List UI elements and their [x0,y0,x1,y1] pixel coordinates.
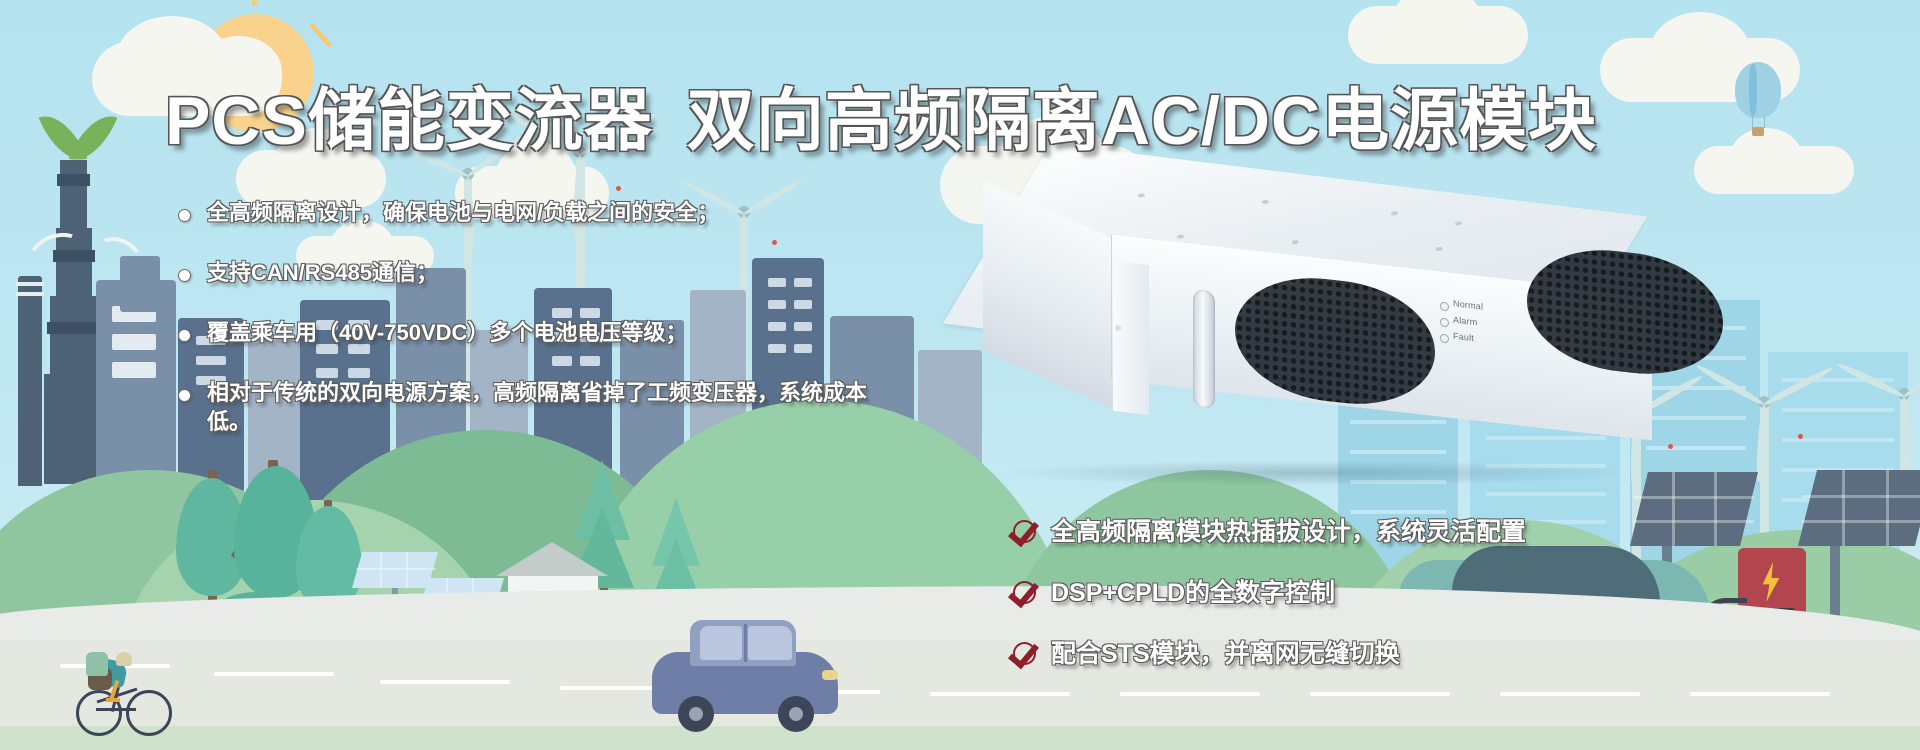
bullet-dot-icon [178,269,191,282]
bullet-text: 全高频隔离设计，确保电池与电网/负载之间的安全； [207,198,719,227]
check-digital-control: DSP+CPLD的全数字控制 [1012,573,1526,609]
bullet-text: 支持CAN/RS485通信； [207,258,438,287]
led-normal-indicator [1440,301,1449,311]
bullet-dot-icon [178,329,191,342]
bullet-communication: 支持CAN/RS485通信； [178,258,938,287]
device-handle[interactable] [1193,289,1215,409]
check-text: 全高频隔离模块热插拔设计，系统灵活配置 [1051,512,1526,548]
check-hotswap: 全高频隔离模块热插拔设计，系统灵活配置 [1012,512,1526,548]
bullet-dot-icon [178,389,191,402]
wheel [778,696,814,732]
bullet-text: 相对于传统的双向电源方案，高频隔离省掉了工频变压器，系统成本低。 [207,378,878,436]
title-part-1: PCS储能变流器 [165,83,653,159]
page-title: PCS储能变流器双向高频隔离AC/DC电源模块 [165,65,1345,164]
check-circle-icon [1012,637,1042,667]
check-circle-icon [1012,576,1042,606]
led-fault-indicator [1440,333,1449,343]
banner-root: Normal Alarm Fault PCS储能变流器双向高频隔离AC/DC电源… [0,0,1920,750]
bullet-dot-icon [178,209,191,222]
rackmount-power-module: Normal Alarm Fault [935,160,1715,480]
check-sts: 配合STS模块，并离网无缝切换 [1012,634,1526,670]
bullet-voltage-range: 覆盖乘车用（40V-750VDC）多个电池电压等级； [178,318,938,347]
device-shadow [995,460,1635,486]
feature-check-list: 全高频隔离模块热插拔设计，系统灵活配置 DSP+CPLD的全数字控制 配合STS… [1012,512,1526,695]
title-part-2: 双向高频隔离AC/DC电源模块 [687,83,1597,159]
bullet-text: 覆盖乘车用（40V-750VDC）多个电池电压等级； [207,318,687,347]
led-alarm-indicator [1440,317,1449,327]
bullet-cost: 相对于传统的双向电源方案，高频隔离省掉了工频变压器，系统成本低。 [178,378,878,436]
check-circle-icon [1012,515,1042,545]
bullet-isolation: 全高频隔离设计，确保电池与电网/负载之间的安全； [178,198,938,227]
device-side-button[interactable] [1115,325,1121,331]
feature-bullet-list: 全高频隔离设计，确保电池与电网/负载之间的安全； 支持CAN/RS485通信； … [178,198,938,467]
check-text: DSP+CPLD的全数字控制 [1051,573,1335,609]
wheel [678,696,714,732]
device-front-bezel [1113,261,1149,415]
check-text: 配合STS模块，并离网无缝切换 [1051,634,1400,670]
